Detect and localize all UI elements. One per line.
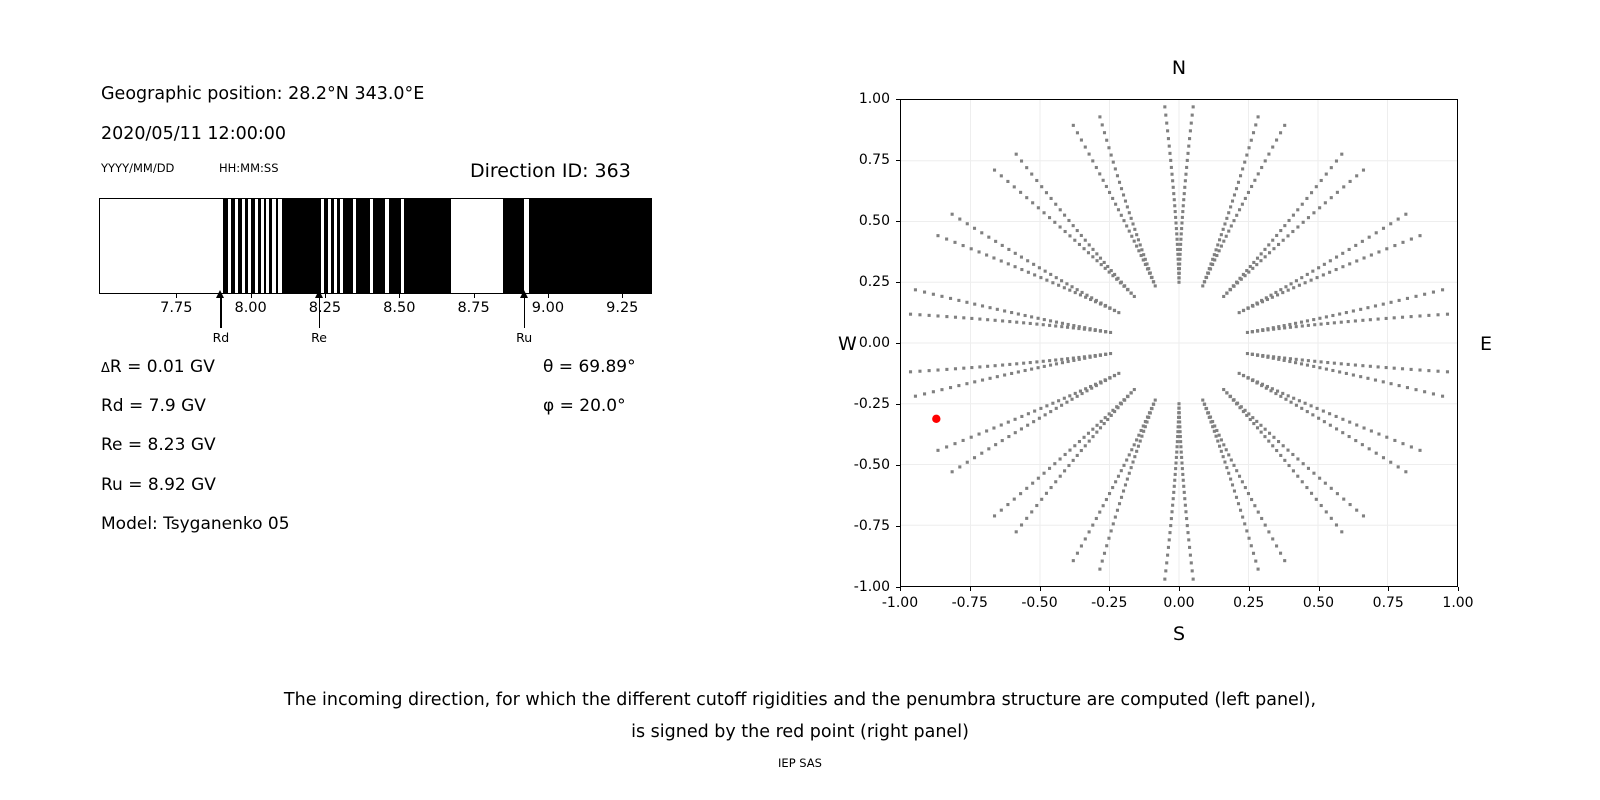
penumbra-axis-tick-label: 9.00 bbox=[532, 300, 564, 316]
penumbra-axis-tick-label: 8.25 bbox=[309, 300, 341, 316]
param-model: Model: Tsyganenko 05 bbox=[101, 514, 290, 534]
penumbra-forbidden-band bbox=[245, 199, 248, 293]
penumbra-axis-tick-label: 8.75 bbox=[457, 300, 489, 316]
sky-y-tick bbox=[896, 526, 900, 527]
sky-y-tick-label: -0.25 bbox=[790, 396, 890, 412]
figure-caption: The incoming direction, for which the di… bbox=[0, 684, 1600, 748]
penumbra-forbidden-band bbox=[264, 199, 267, 293]
compass-east-label: E bbox=[1480, 333, 1492, 355]
penumbra-forbidden-band bbox=[238, 199, 242, 293]
param-phi: φ = 20.0° bbox=[543, 396, 626, 416]
caption-line-1: The incoming direction, for which the di… bbox=[0, 684, 1600, 716]
param-delta-r: ΔR = 0.01 GV bbox=[101, 357, 215, 377]
penumbra-forbidden-band bbox=[529, 199, 652, 293]
penumbra-panel: Geographic position: 28.2°N 343.0°E 2020… bbox=[0, 0, 760, 670]
penumbra-axis-tick bbox=[474, 294, 475, 298]
delta-r-text: R = 0.01 GV bbox=[110, 357, 215, 377]
sky-y-tick-label: -1.00 bbox=[790, 579, 890, 595]
penumbra-forbidden-band bbox=[404, 199, 451, 293]
penumbra-forbidden-band bbox=[223, 199, 227, 293]
param-theta: θ = 69.89° bbox=[543, 357, 636, 377]
param-ru: Ru = 8.92 GV bbox=[101, 475, 216, 495]
param-re: Re = 8.23 GV bbox=[101, 435, 216, 455]
sky-x-tick bbox=[900, 587, 901, 591]
sky-y-tick bbox=[896, 221, 900, 222]
sky-y-tick bbox=[896, 343, 900, 344]
penumbra-axis-tick bbox=[325, 294, 326, 298]
sky-x-tick-label: -0.25 bbox=[1091, 595, 1127, 611]
sky-y-tick bbox=[896, 160, 900, 161]
figure-root: Geographic position: 28.2°N 343.0°E 2020… bbox=[0, 0, 1600, 800]
datetime-label: 2020/05/11 12:00:00 bbox=[101, 124, 286, 144]
penumbra-bar bbox=[99, 198, 652, 294]
date-format-hint: YYYY/MM/DD bbox=[101, 161, 174, 175]
sky-y-tick-label: -0.75 bbox=[790, 518, 890, 534]
penumbra-forbidden-band bbox=[343, 199, 353, 293]
param-rd: Rd = 7.9 GV bbox=[101, 396, 206, 416]
sky-x-tick-label: 1.00 bbox=[1442, 595, 1473, 611]
compass-south-label: S bbox=[1173, 623, 1185, 645]
sky-x-tick-label: 0.50 bbox=[1303, 595, 1334, 611]
sky-x-tick bbox=[1388, 587, 1389, 591]
sky-y-tick-label: 0.00 bbox=[790, 335, 890, 351]
sky-scatter-svg bbox=[901, 100, 1457, 586]
sky-y-tick-label: 0.75 bbox=[790, 152, 890, 168]
penumbra-forbidden-band bbox=[331, 199, 334, 293]
penumbra-forbidden-band bbox=[269, 199, 272, 293]
sky-x-tick bbox=[970, 587, 971, 591]
penumbra-axis-tick bbox=[251, 294, 252, 298]
penumbra-marker-ru-label: Ru bbox=[516, 330, 532, 345]
sky-plot-axes bbox=[900, 99, 1458, 587]
sky-y-tick-label: 1.00 bbox=[790, 91, 890, 107]
penumbra-axis-tick-label: 8.50 bbox=[383, 300, 415, 316]
geographic-position-label: Geographic position: 28.2°N 343.0°E bbox=[101, 84, 424, 104]
sky-gridlines bbox=[901, 100, 1457, 586]
sky-y-tick bbox=[896, 465, 900, 466]
sky-x-tick-label: 0.75 bbox=[1373, 595, 1404, 611]
sky-y-tick-label: 0.25 bbox=[790, 274, 890, 290]
penumbra-marker-rd-label: Rd bbox=[213, 330, 230, 345]
sky-panel: N S W E 1.000.750.500.250.00-0.25-0.50-0… bbox=[790, 0, 1600, 670]
penumbra-forbidden-band bbox=[337, 199, 340, 293]
penumbra-forbidden-band bbox=[356, 199, 370, 293]
sky-y-tick-label: -0.50 bbox=[790, 457, 890, 473]
time-format-hint: HH:MM:SS bbox=[219, 161, 279, 175]
penumbra-forbidden-band bbox=[389, 199, 401, 293]
caption-line-2: is signed by the red point (right panel) bbox=[0, 716, 1600, 748]
sky-x-tick-label: 0.00 bbox=[1163, 595, 1194, 611]
sky-x-tick bbox=[1179, 587, 1180, 591]
penumbra-marker-re-label: Re bbox=[311, 330, 327, 345]
sky-x-tick-label: 0.25 bbox=[1233, 595, 1264, 611]
penumbra-bands bbox=[100, 199, 651, 293]
penumbra-axis-tick-label: 8.00 bbox=[234, 300, 266, 316]
penumbra-forbidden-band bbox=[324, 199, 328, 293]
penumbra-forbidden-band bbox=[276, 199, 279, 293]
delta-symbol: Δ bbox=[101, 361, 110, 376]
sky-y-tick bbox=[896, 282, 900, 283]
penumbra-axis-tick bbox=[399, 294, 400, 298]
penumbra-forbidden-band bbox=[282, 199, 321, 293]
sky-x-tick bbox=[1319, 587, 1320, 591]
penumbra-forbidden-band bbox=[258, 199, 260, 293]
sky-x-tick-label: -0.50 bbox=[1021, 595, 1057, 611]
sky-x-tick-label: -1.00 bbox=[882, 595, 918, 611]
direction-id-label: Direction ID: 363 bbox=[470, 160, 631, 182]
sky-x-tick bbox=[1040, 587, 1041, 591]
sky-x-tick bbox=[1109, 587, 1110, 591]
sky-x-tick bbox=[1249, 587, 1250, 591]
sky-x-tick-label: -0.75 bbox=[952, 595, 988, 611]
penumbra-axis-tick-label: 7.75 bbox=[160, 300, 192, 316]
penumbra-forbidden-band bbox=[231, 199, 235, 293]
compass-north-label: N bbox=[1172, 57, 1186, 79]
sky-y-tick-label: 0.50 bbox=[790, 213, 890, 229]
sky-y-tick bbox=[896, 404, 900, 405]
selected-direction-marker[interactable] bbox=[932, 415, 940, 423]
sky-x-tick bbox=[1458, 587, 1459, 591]
penumbra-axis-tick-label: 9.25 bbox=[606, 300, 638, 316]
sky-y-tick bbox=[896, 99, 900, 100]
penumbra-forbidden-band bbox=[251, 199, 255, 293]
penumbra-forbidden-band bbox=[373, 199, 385, 293]
penumbra-axis: 7.758.008.258.508.759.009.25RdReRu bbox=[99, 294, 652, 354]
penumbra-forbidden-band bbox=[503, 199, 524, 293]
footer-credit: IEP SAS bbox=[0, 756, 1600, 770]
penumbra-axis-tick bbox=[176, 294, 177, 298]
penumbra-axis-tick bbox=[622, 294, 623, 298]
penumbra-axis-tick bbox=[548, 294, 549, 298]
